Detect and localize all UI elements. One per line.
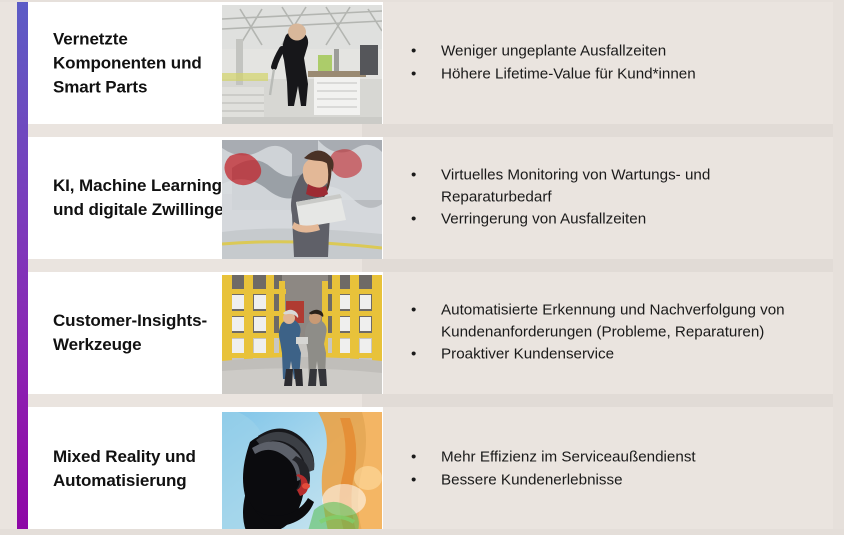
list-item: •Proaktiver Kundenservice [410, 344, 820, 366]
list-item: •Automatisierte Erkennung und Nachverfol… [410, 299, 820, 342]
warehouse-discussion-photo [222, 275, 382, 394]
bullet-text: Höhere Lifetime-Value für Kund*innen [441, 65, 696, 82]
content-row: Customer-Insights-Werkzeuge [28, 272, 833, 394]
factory-technician-photo [222, 5, 382, 124]
slide-canvas: Vernetzte Komponenten und Smart Parts [0, 0, 844, 535]
row-seam-1 [362, 124, 833, 137]
row-seam-2 [362, 259, 833, 272]
bullet-text: Verringerung von Ausfallzeiten [441, 211, 646, 228]
list-item: •Höhere Lifetime-Value für Kund*innen [410, 63, 820, 85]
bullet-text: Weniger ungeplante Ausfallzeiten [441, 42, 666, 59]
bullet-marker-icon: • [411, 63, 416, 85]
list-item: •Bessere Kundenerlebnisse [410, 469, 820, 491]
row-title: KI, Machine Learning und digitale Zwilli… [53, 174, 233, 222]
list-item: •Verringerung von Ausfallzeiten [410, 209, 820, 231]
bullet-text: Bessere Kundenerlebnisse [441, 471, 623, 488]
list-item: •Virtuelles Monitoring von Wartungs- und… [410, 164, 820, 207]
bullet-list: •Virtuelles Monitoring von Wartungs- und… [410, 164, 820, 231]
bullets-panel: •Virtuelles Monitoring von Wartungs- und… [390, 137, 833, 259]
bullet-marker-icon: • [411, 40, 416, 62]
bullet-marker-icon: • [411, 299, 416, 321]
list-item: •Weniger ungeplante Ausfallzeiten [410, 40, 820, 62]
bullet-marker-icon: • [411, 446, 416, 468]
bullets-panel: •Automatisierte Erkennung und Nachverfol… [390, 272, 833, 394]
bullet-text: Automatisierte Erkennung und Nachverfolg… [441, 301, 785, 340]
left-gradient-accent-bar [17, 0, 28, 535]
bullet-marker-icon: • [411, 209, 416, 231]
bullet-list: •Mehr Effizienz im Serviceaußendienst •B… [410, 446, 820, 491]
content-row: KI, Machine Learning und digitale Zwilli… [28, 137, 833, 259]
row-title: Customer-Insights-Werkzeuge [53, 309, 233, 357]
right-margin-strip [833, 0, 844, 535]
row-seam-3 [362, 394, 833, 407]
row-title: Vernetzte Komponenten und Smart Parts [53, 27, 233, 98]
row-title: Mixed Reality und Automatisierung [53, 445, 233, 493]
content-row: Mixed Reality und Automatisierung [28, 407, 833, 531]
bullet-text: Mehr Effizienz im Serviceaußendienst [441, 448, 696, 465]
bullets-panel: •Weniger ungeplante Ausfallzeiten •Höher… [390, 2, 833, 124]
bullet-text: Proaktiver Kundenservice [441, 346, 614, 363]
list-item: •Mehr Effizienz im Serviceaußendienst [410, 446, 820, 468]
bullet-marker-icon: • [411, 344, 416, 366]
mixed-reality-headset-photo [222, 412, 382, 531]
left-margin-strip [0, 0, 17, 535]
bullet-list: •Automatisierte Erkennung und Nachverfol… [410, 299, 820, 366]
bullet-marker-icon: • [411, 469, 416, 491]
engineer-with-laptop-photo [222, 140, 382, 259]
bullet-list: •Weniger ungeplante Ausfallzeiten •Höher… [410, 40, 820, 85]
top-margin-strip [0, 0, 844, 2]
bullets-panel: •Mehr Effizienz im Serviceaußendienst •B… [390, 407, 833, 531]
bullet-text: Virtuelles Monitoring von Wartungs- und … [441, 166, 710, 205]
bullet-marker-icon: • [411, 164, 416, 186]
bottom-margin-strip [0, 529, 844, 535]
content-row: Vernetzte Komponenten und Smart Parts [28, 2, 833, 124]
